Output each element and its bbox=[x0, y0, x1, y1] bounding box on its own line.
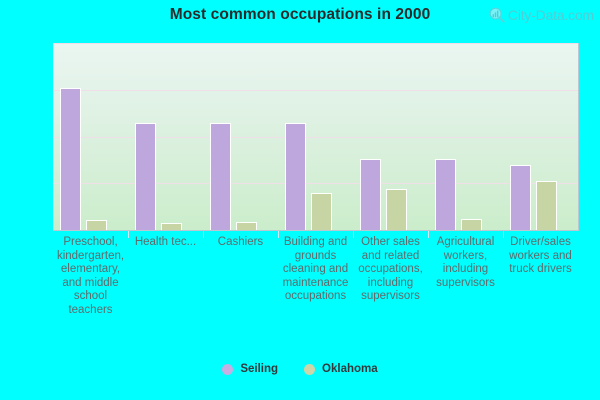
bar-oklahoma[interactable] bbox=[536, 181, 557, 230]
bar-oklahoma[interactable] bbox=[236, 222, 257, 230]
bar-group bbox=[278, 43, 353, 230]
bar-group bbox=[353, 43, 428, 230]
bar-oklahoma[interactable] bbox=[311, 193, 332, 230]
legend-swatch-icon bbox=[222, 364, 233, 375]
category-label: Cashiers bbox=[203, 236, 278, 250]
bar-oklahoma[interactable] bbox=[461, 219, 482, 230]
bar-seiling[interactable] bbox=[285, 123, 306, 230]
bar-oklahoma[interactable] bbox=[386, 189, 407, 230]
legend-swatch-icon bbox=[304, 364, 315, 375]
bar-group bbox=[503, 43, 578, 230]
legend-label: Seiling bbox=[240, 363, 278, 375]
category-label: Building and grounds cleaning and mainte… bbox=[278, 236, 353, 304]
category-label: Preschool, kindergarten, elementary, and… bbox=[53, 236, 128, 317]
bar-seiling[interactable] bbox=[435, 159, 456, 230]
bar-seiling[interactable] bbox=[360, 159, 381, 230]
bar-seiling[interactable] bbox=[60, 88, 81, 230]
bar-seiling[interactable] bbox=[135, 123, 156, 230]
bar-seiling[interactable] bbox=[510, 165, 531, 230]
legend-label: Oklahoma bbox=[322, 363, 378, 375]
bar-oklahoma[interactable] bbox=[161, 223, 182, 230]
legend: SeilingOklahoma bbox=[0, 363, 600, 375]
bar-chart: Most common occupations in 2000 0%2.5%5%… bbox=[0, 0, 600, 400]
magnifier-bar-chart-icon bbox=[489, 7, 505, 23]
bar-group bbox=[53, 43, 128, 230]
legend-item-oklahoma[interactable]: Oklahoma bbox=[304, 363, 378, 375]
category-label: Driver/sales workers and truck drivers bbox=[503, 236, 578, 277]
category-label: Agricultural workers, including supervis… bbox=[428, 236, 503, 290]
watermark-label: City-Data.com bbox=[508, 7, 594, 23]
bar-seiling[interactable] bbox=[210, 123, 231, 230]
legend-item-seiling[interactable]: Seiling bbox=[222, 363, 278, 375]
bar-group bbox=[203, 43, 278, 230]
bar-oklahoma[interactable] bbox=[86, 220, 107, 230]
category-label: Other sales and related occupations, inc… bbox=[353, 236, 428, 304]
category-label: Health tec... bbox=[128, 236, 203, 250]
watermark: City-Data.com bbox=[489, 7, 594, 23]
bars-layer bbox=[53, 43, 578, 230]
bar-group bbox=[428, 43, 503, 230]
x-axis-category-labels: Preschool, kindergarten, elementary, and… bbox=[53, 236, 578, 356]
bar-group bbox=[128, 43, 203, 230]
